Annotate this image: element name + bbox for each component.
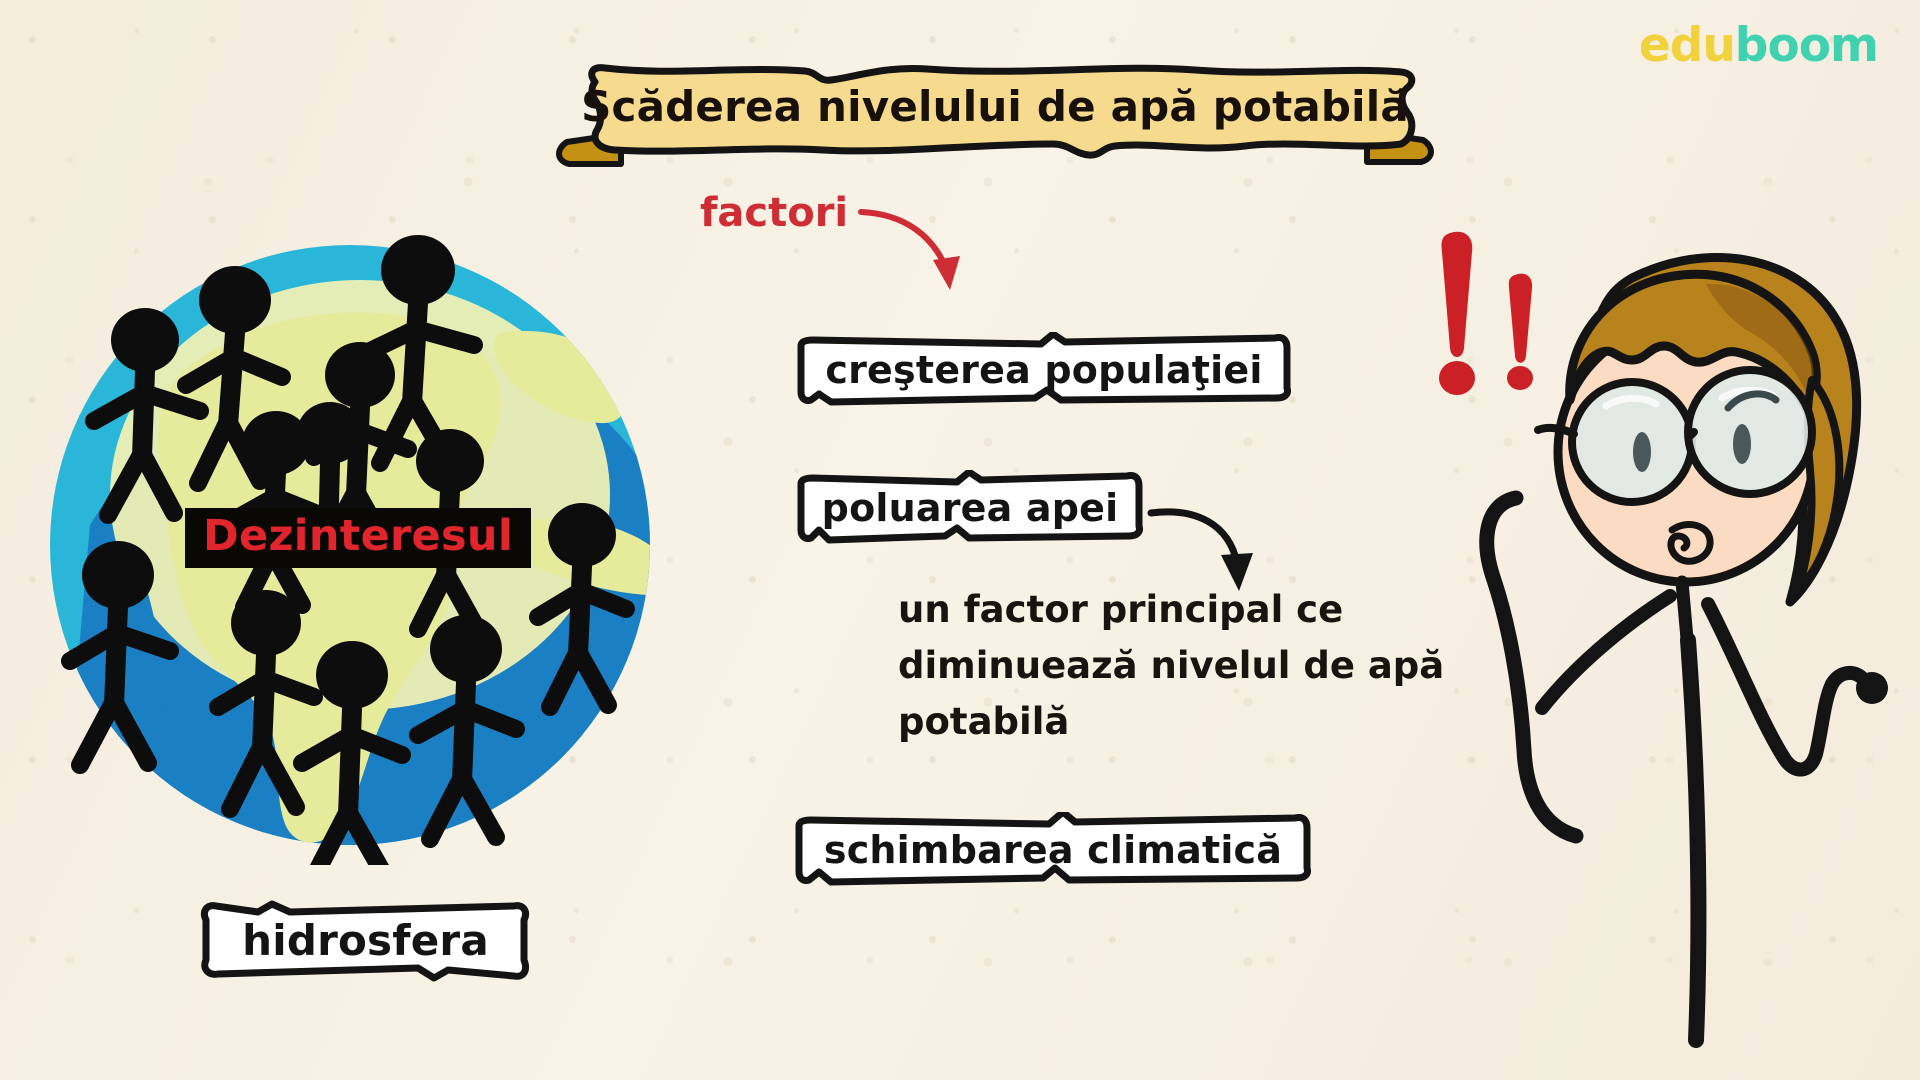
character-eye-left bbox=[1633, 432, 1651, 472]
character-left-shoulder bbox=[1542, 596, 1670, 708]
title-banner: Scăderea nivelului de apă potabilă bbox=[555, 60, 1435, 178]
banner-title-text: Scăderea nivelului de apă potabilă bbox=[555, 82, 1435, 131]
factor-box-population-growth[interactable]: creşterea populaţiei bbox=[795, 332, 1293, 408]
hidrosfera-label: hidrosfera bbox=[220, 916, 511, 965]
character-graphic bbox=[1420, 230, 1920, 1080]
factori-arrow-icon bbox=[855, 198, 985, 308]
eduboom-logo: eduboom bbox=[1639, 18, 1878, 73]
logo-boom-text: boom bbox=[1735, 18, 1878, 73]
character-eye-right bbox=[1733, 424, 1751, 464]
character-right-fist bbox=[1856, 672, 1888, 704]
infographic-canvas: eduboom Scăderea nivelului de apă potabi… bbox=[0, 0, 1920, 1080]
cartoon-character-illustration bbox=[1420, 230, 1920, 1080]
character-left-arm bbox=[1487, 498, 1576, 836]
factor-box-climate-change[interactable]: schimbarea climatică bbox=[793, 812, 1313, 888]
factori-label: factori bbox=[700, 190, 848, 236]
logo-edu-text: edu bbox=[1639, 18, 1735, 73]
character-right-arm bbox=[1708, 604, 1832, 770]
factor-box-water-pollution[interactable]: poluarea apei bbox=[795, 470, 1145, 546]
factor-box-label: poluarea apei bbox=[800, 486, 1141, 530]
character-body bbox=[1688, 640, 1698, 1040]
factor-box-label: schimbarea climatică bbox=[802, 828, 1304, 872]
hidrosfera-caption-box[interactable]: hidrosfera bbox=[198, 898, 533, 982]
dezinteresul-highlight-label: Dezinteresul bbox=[185, 508, 531, 568]
factor-box-label: creşterea populaţiei bbox=[803, 348, 1284, 392]
exclamation-marks-icon bbox=[1439, 232, 1533, 395]
